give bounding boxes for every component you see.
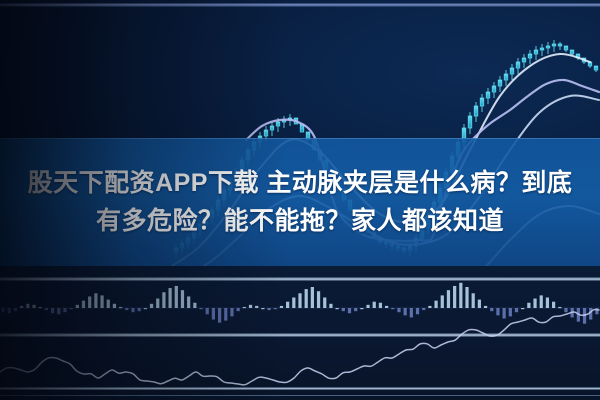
thumbnail-image: 股天下配资APP下载 主动脉夹层是什么病？到底 有多危险？能不能拖？家人都该知道 <box>0 0 600 400</box>
left-vignette <box>0 0 600 400</box>
